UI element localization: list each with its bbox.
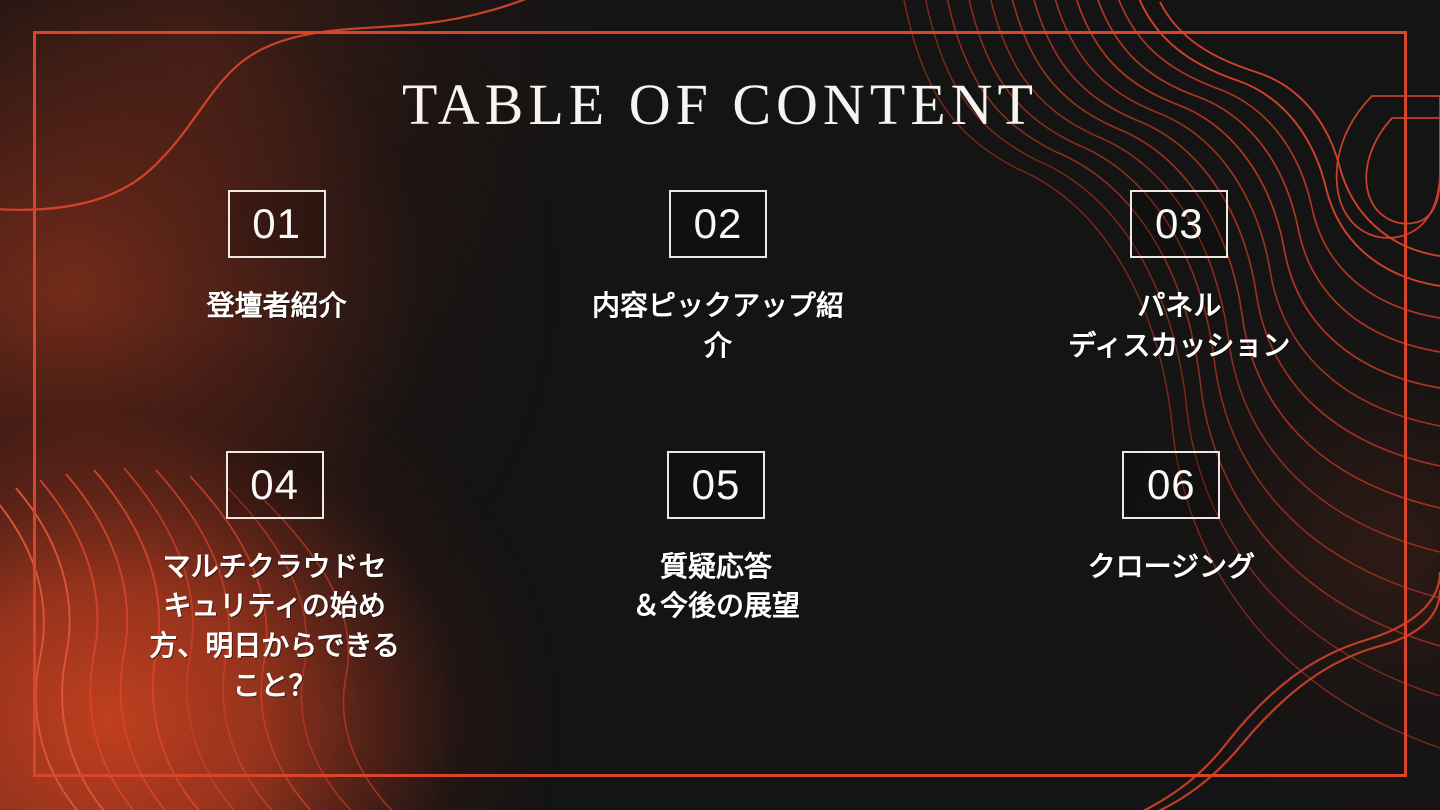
toc-number-box-06: 06 <box>1122 451 1220 519</box>
toc-row-1: 01 登壇者紹介 02 内容ピックアップ紹 介 03 パネル ディスカッション <box>64 190 1376 366</box>
toc-item-05[interactable]: 05 質疑応答 ＆今後の展望 <box>497 451 934 706</box>
toc-label-04: マルチクラウドセ キュリティの始め 方、明日からできる こと？ <box>149 547 400 706</box>
toc-number-box-03: 03 <box>1130 190 1228 258</box>
toc-number-06: 06 <box>1147 464 1196 506</box>
toc-row-2: 04 マルチクラウドセ キュリティの始め 方、明日からできる こと？ 05 質疑… <box>64 451 1376 706</box>
toc-number-03: 03 <box>1155 203 1204 245</box>
toc-number-02: 02 <box>694 203 743 245</box>
toc-item-01[interactable]: 01 登壇者紹介 <box>58 190 495 366</box>
toc-number-box-05: 05 <box>667 451 765 519</box>
slide-table-of-content: TABLE OF CONTENT 01 登壇者紹介 02 内容ピックアップ紹 介 <box>0 0 1440 810</box>
toc-label-01: 登壇者紹介 <box>207 286 347 326</box>
toc-number-01: 01 <box>252 203 301 245</box>
toc-number-box-02: 02 <box>669 190 767 258</box>
toc-number-05: 05 <box>692 464 741 506</box>
toc-item-04[interactable]: 04 マルチクラウドセ キュリティの始め 方、明日からできる こと？ <box>56 451 493 706</box>
toc-label-02: 内容ピックアップ紹 介 <box>592 286 844 366</box>
page-title: TABLE OF CONTENT <box>0 76 1440 134</box>
toc-number-04: 04 <box>250 464 299 506</box>
toc-item-06[interactable]: 06 クロージング <box>953 451 1390 706</box>
toc-item-03[interactable]: 03 パネル ディスカッション <box>961 190 1398 366</box>
toc-label-03: パネル ディスカッション <box>1068 286 1290 366</box>
slide-content: TABLE OF CONTENT 01 登壇者紹介 02 内容ピックアップ紹 介 <box>0 0 1440 810</box>
toc-label-06: クロージング <box>1088 547 1255 587</box>
toc-grid: 01 登壇者紹介 02 内容ピックアップ紹 介 03 パネル ディスカッション <box>64 190 1376 706</box>
toc-number-box-04: 04 <box>226 451 324 519</box>
toc-item-02[interactable]: 02 内容ピックアップ紹 介 <box>499 190 936 366</box>
toc-number-box-01: 01 <box>228 190 326 258</box>
toc-label-05: 質疑応答 ＆今後の展望 <box>632 547 800 627</box>
